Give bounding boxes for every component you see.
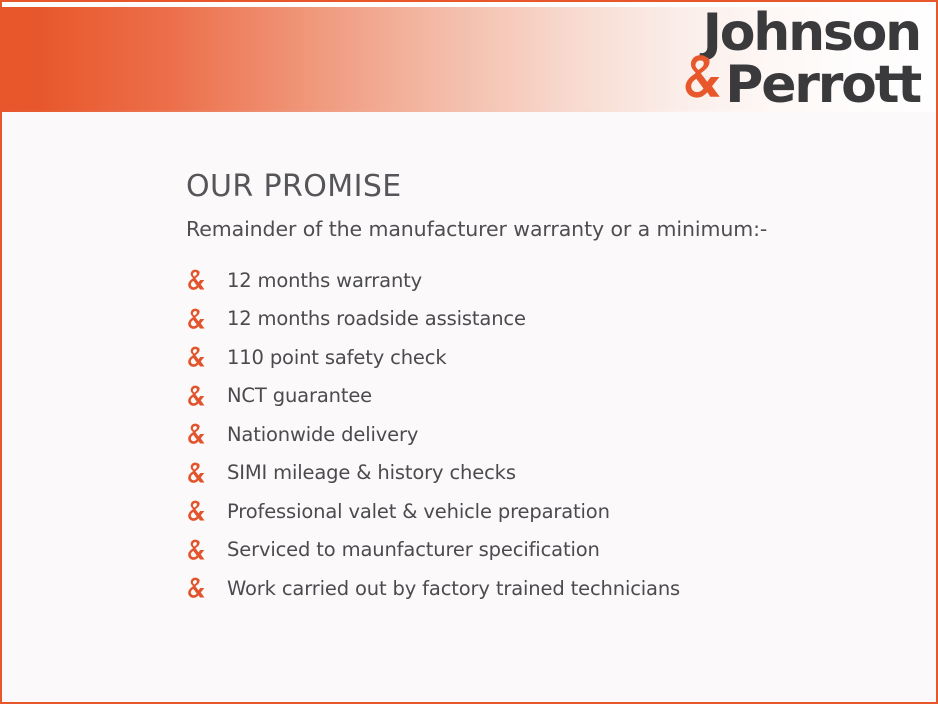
list-item: 110 point safety check [186,345,896,371]
list-item: Serviced to maunfacturer specification [186,537,896,563]
logo-line-perrott-text: Perrott [725,55,920,115]
list-item-label: SIMI mileage & history checks [227,461,516,484]
ampersand-bullet-icon [186,538,208,562]
promise-content: OUR PROMISE Remainder of the manufacture… [186,170,896,614]
ampersand-bullet-icon [186,269,208,293]
list-item-label: Work carried out by factory trained tech… [227,577,680,600]
list-item-label: Professional valet & vehicle preparation [227,500,610,523]
list-item: SIMI mileage & history checks [186,460,896,486]
list-item: Professional valet & vehicle preparation [186,499,896,525]
ampersand-bullet-icon [186,423,208,447]
logo-line-johnson: Johnson [681,10,920,58]
logo-line-perrott: Perrott [681,54,920,110]
list-item: NCT guarantee [186,383,896,409]
ampersand-bullet-icon [186,500,208,524]
ampersand-logo-icon [681,54,725,102]
ampersand-bullet-icon [186,577,208,601]
ampersand-bullet-icon [186,307,208,331]
ampersand-bullet-icon [186,384,208,408]
list-item-label: 12 months warranty [227,269,422,292]
list-item-label: Serviced to maunfacturer specification [227,538,600,561]
list-item: Work carried out by factory trained tech… [186,576,896,602]
page-title: OUR PROMISE [186,170,896,203]
list-item-label: 12 months roadside assistance [227,307,526,330]
ampersand-bullet-icon [186,461,208,485]
ampersand-bullet-icon [186,346,208,370]
promise-subtitle: Remainder of the manufacturer warranty o… [186,217,896,242]
list-item: 12 months warranty [186,268,896,294]
johnson-and-perrott-logo: Johnson Perrott [681,10,920,110]
list-item: Nationwide delivery [186,422,896,448]
promise-list: 12 months warranty 12 months roadside as… [186,268,896,602]
promise-poster: Johnson Perrott OUR PROMISE Remainder of… [0,0,938,704]
list-item-label: 110 point safety check [227,346,447,369]
list-item: 12 months roadside assistance [186,306,896,332]
list-item-label: NCT guarantee [227,384,372,407]
list-item-label: Nationwide delivery [227,423,418,446]
